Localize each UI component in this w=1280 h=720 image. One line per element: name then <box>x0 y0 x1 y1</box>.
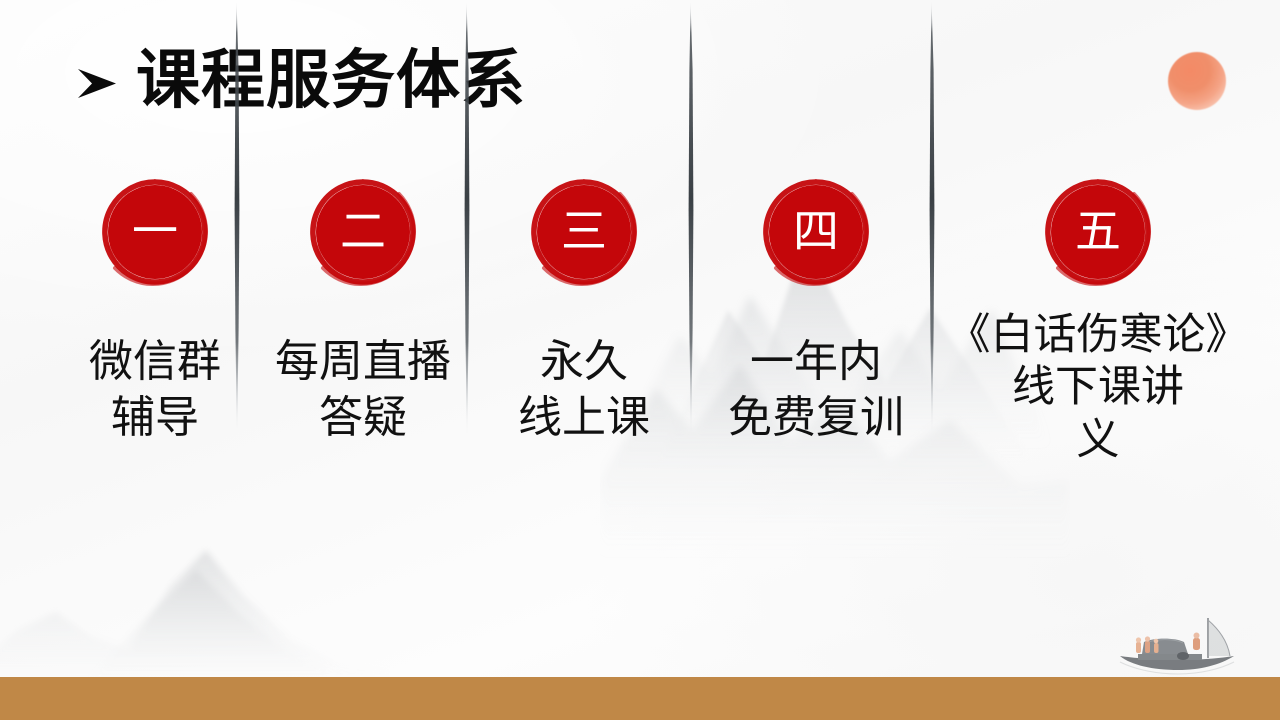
slide-canvas: 课程服务体系 <box>0 0 1280 720</box>
service-label-line: 线上课 <box>518 390 650 446</box>
service-label-line: 永久 <box>518 334 650 390</box>
service-label-line: 免费复训 <box>728 390 904 446</box>
badge-number-5: 五 <box>1075 209 1121 255</box>
service-label-line: 答疑 <box>275 390 451 446</box>
service-column-1: 一 微信群 辅导 <box>50 168 260 447</box>
service-column-5: 五 《白话伤寒论》 线下课讲 义 <box>948 168 1248 467</box>
service-column-2: 二 每周直播 答疑 <box>258 168 468 447</box>
service-label-line: 微信群 <box>89 334 221 390</box>
footer-bar <box>0 677 1280 720</box>
triangle-arrow-bullet-icon <box>74 61 120 107</box>
service-columns: 一 微信群 辅导 二 每周直播 答疑 <box>0 168 1280 628</box>
sun-icon <box>1168 52 1226 110</box>
badge-number-4: 四 <box>793 209 839 255</box>
badge-number-2: 二 <box>340 209 386 255</box>
badge-number-3: 三 <box>561 209 607 255</box>
badge-5: 五 <box>1034 168 1162 296</box>
service-label-line: 辅导 <box>89 390 221 446</box>
service-label-4: 一年内 免费复训 <box>728 334 904 447</box>
service-label-line: 义 <box>948 415 1249 467</box>
service-label-5: 《白话伤寒论》 线下课讲 义 <box>948 310 1249 467</box>
service-label-3: 永久 线上课 <box>518 334 650 447</box>
badge-3: 三 <box>520 168 648 296</box>
badge-2: 二 <box>299 168 427 296</box>
ink-wash-boat-icon <box>1112 612 1242 680</box>
service-label-line: 一年内 <box>728 334 904 390</box>
service-label-2: 每周直播 答疑 <box>275 334 451 447</box>
badge-4: 四 <box>752 168 880 296</box>
service-label-line: 线下课讲 <box>948 362 1249 414</box>
service-column-4: 四 一年内 免费复训 <box>711 168 921 447</box>
service-label-line: 《白话伤寒论》 <box>948 310 1249 362</box>
badge-number-1: 一 <box>132 209 178 255</box>
badge-1: 一 <box>91 168 219 296</box>
service-label-line: 每周直播 <box>275 334 451 390</box>
service-column-3: 三 永久 线上课 <box>479 168 689 447</box>
service-label-1: 微信群 辅导 <box>89 334 221 447</box>
